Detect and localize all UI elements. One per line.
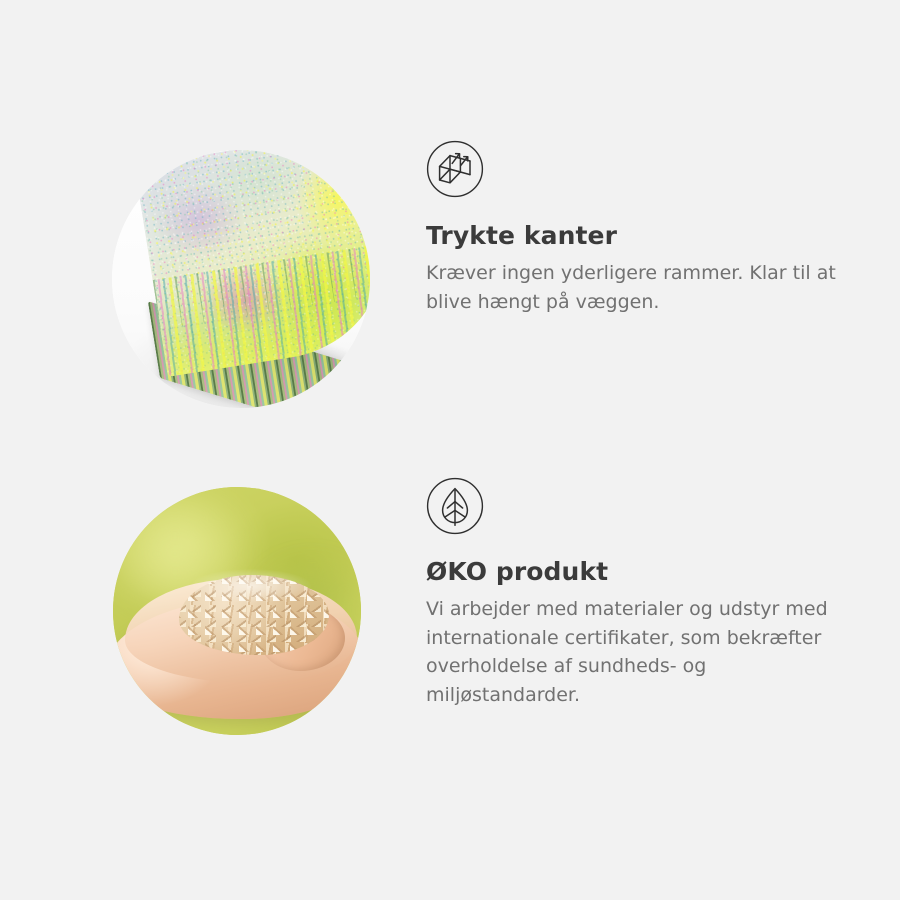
eco-photo-scene — [113, 487, 361, 735]
canvas-photo-scene — [112, 150, 370, 408]
feature-text-printed-edges: Trykte kanter Kræver ingen yderligere ra… — [426, 140, 856, 316]
feature-block-eco-product: ØKO produkt Vi arbejder med materialer o… — [0, 477, 900, 777]
canvas-wrapped-edge-icon — [426, 140, 484, 198]
feature-image-eco-product — [113, 487, 361, 735]
canvas-painted-face — [134, 150, 370, 377]
product-features-page: Trykte kanter Kræver ingen yderligere ra… — [0, 0, 900, 900]
feature-image-printed-edges — [112, 150, 370, 408]
wood-chips-highlight — [191, 569, 311, 603]
feature-description: Kræver ingen yderligere rammer. Klar til… — [426, 259, 846, 316]
feature-block-printed-edges: Trykte kanter Kræver ingen yderligere ra… — [0, 140, 900, 440]
feature-title: ØKO produkt — [426, 557, 856, 587]
feature-title: Trykte kanter — [426, 221, 856, 251]
feature-description: Vi arbejder med materialer og udstyr med… — [426, 595, 846, 709]
feature-text-eco-product: ØKO produkt Vi arbejder med materialer o… — [426, 477, 856, 709]
leaf-icon — [426, 477, 484, 535]
canvas-corner — [115, 150, 370, 408]
